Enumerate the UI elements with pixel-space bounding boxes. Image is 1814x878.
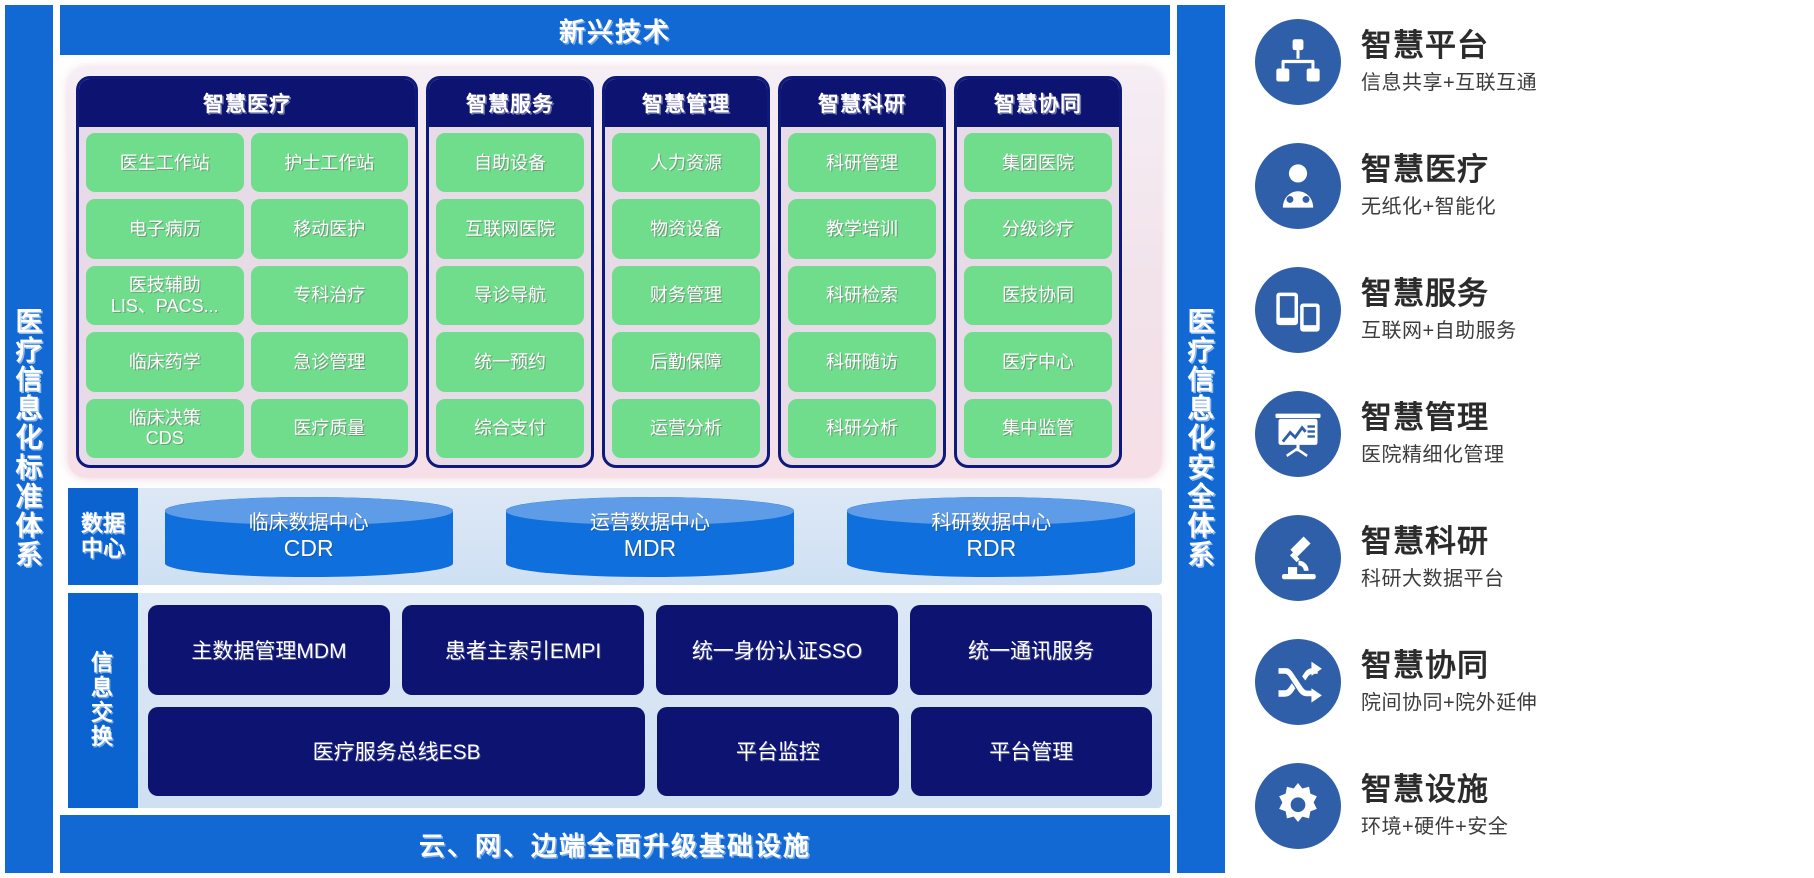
information-exchange-pill[interactable]: 主数据管理MDM bbox=[148, 605, 390, 695]
data-center-tag-line1: 数据 bbox=[81, 512, 125, 537]
information-exchange-tag-char: 息 bbox=[91, 676, 115, 701]
legend-subtitle: 无纸化+智能化 bbox=[1361, 190, 1496, 219]
application-cell[interactable]: 电子病历 bbox=[86, 199, 244, 258]
application-cell[interactable]: 医技协同 bbox=[964, 266, 1112, 325]
right-rail-label: 医疗信息化安全体系 bbox=[1188, 308, 1215, 570]
application-cell[interactable]: 医生工作站 bbox=[86, 133, 244, 192]
legend-subtitle: 信息共享+互联互通 bbox=[1361, 66, 1537, 95]
legend-item[interactable]: 智慧设施环境+硬件+安全 bbox=[1255, 750, 1810, 862]
gear-icon bbox=[1255, 763, 1341, 849]
application-column-body: 集团医院分级诊疗医技协同医疗中心集中监管 bbox=[957, 127, 1119, 465]
legend-item[interactable]: 智慧科研科研大数据平台 bbox=[1255, 502, 1810, 614]
application-cell[interactable]: 临床药学 bbox=[86, 332, 244, 391]
shuffle-icon bbox=[1255, 639, 1341, 725]
application-cell[interactable]: 人力资源 bbox=[612, 133, 760, 192]
right-rail-security-system: 医疗信息化安全体系 bbox=[1177, 5, 1225, 873]
application-column-title: 智慧科研 bbox=[781, 79, 943, 127]
legend-subtitle: 院间协同+院外延伸 bbox=[1361, 686, 1537, 715]
application-cell[interactable]: 分级诊疗 bbox=[964, 199, 1112, 258]
application-cell[interactable]: 急诊管理 bbox=[251, 332, 409, 391]
data-center-cylinder[interactable]: 科研数据中心RDR bbox=[847, 497, 1135, 577]
application-column-body: 自助设备互联网医院导诊导航统一预约综合支付 bbox=[429, 127, 591, 465]
left-rail-standard-system: 医疗信息化标准体系 bbox=[5, 5, 53, 873]
legend-subtitle: 环境+硬件+安全 bbox=[1361, 810, 1508, 839]
org-chart-icon bbox=[1255, 19, 1341, 105]
data-center-name: 运营数据中心 bbox=[590, 511, 710, 535]
application-column-body: 科研管理教学培训科研检索科研随访科研分析 bbox=[781, 127, 943, 465]
application-cell[interactable]: 运营分析 bbox=[612, 399, 760, 458]
architecture-diagram: 医疗信息化标准体系 医疗信息化安全体系 新兴技术 智慧医疗医生工作站电子病历医技… bbox=[0, 0, 1814, 878]
application-cell[interactable]: 集中监管 bbox=[964, 399, 1112, 458]
application-cell[interactable]: 统一预约 bbox=[436, 332, 584, 391]
legend-subtitle: 互联网+自助服务 bbox=[1361, 314, 1517, 343]
data-center-tag: 数据 中心 bbox=[68, 488, 138, 585]
application-column-title: 智慧协同 bbox=[957, 79, 1119, 127]
application-column-title: 智慧医疗 bbox=[79, 79, 415, 127]
legend-title: 智慧医疗 bbox=[1361, 153, 1496, 187]
application-column: 智慧管理人力资源物资设备财务管理后勤保障运营分析 bbox=[602, 76, 770, 468]
application-cell[interactable]: 导诊导航 bbox=[436, 266, 584, 325]
information-exchange-tag-char: 换 bbox=[91, 725, 115, 750]
information-exchange-pill[interactable]: 统一身份认证SSO bbox=[656, 605, 898, 695]
application-column-body: 医生工作站电子病历医技辅助 LIS、PACS...临床药学临床决策 CDS护士工… bbox=[79, 127, 415, 465]
data-center-abbr: RDR bbox=[966, 535, 1016, 563]
information-exchange-row-2: 医疗服务总线ESB平台监控平台管理 bbox=[148, 707, 1152, 797]
information-exchange-layer: 信息交换 主数据管理MDM患者主索引EMPI统一身份认证SSO统一通讯服务 医疗… bbox=[68, 593, 1162, 808]
data-center-abbr: CDR bbox=[284, 535, 334, 563]
legend-text: 智慧服务互联网+自助服务 bbox=[1361, 277, 1517, 343]
information-exchange-pill[interactable]: 患者主索引EMPI bbox=[402, 605, 644, 695]
data-center-name: 科研数据中心 bbox=[931, 511, 1051, 535]
legend-text: 智慧协同院间协同+院外延伸 bbox=[1361, 649, 1537, 715]
legend-item[interactable]: 智慧服务互联网+自助服务 bbox=[1255, 254, 1810, 366]
band-emerging-technology: 新兴技术 bbox=[60, 5, 1170, 55]
data-center-name: 临床数据中心 bbox=[249, 511, 369, 535]
application-cell[interactable]: 互联网医院 bbox=[436, 199, 584, 258]
legend-item[interactable]: 智慧平台信息共享+互联互通 bbox=[1255, 6, 1810, 118]
application-cell[interactable]: 物资设备 bbox=[612, 199, 760, 258]
band-infrastructure: 云、网、边端全面升级基础设施 bbox=[60, 815, 1170, 873]
legend-panel: 智慧平台信息共享+互联互通智慧医疗无纸化+智能化智慧服务互联网+自助服务智慧管理… bbox=[1255, 4, 1810, 874]
application-column-title: 智慧管理 bbox=[605, 79, 767, 127]
information-exchange-pill[interactable]: 医疗服务总线ESB bbox=[148, 707, 645, 797]
legend-text: 智慧设施环境+硬件+安全 bbox=[1361, 773, 1508, 839]
legend-title: 智慧协同 bbox=[1361, 649, 1537, 683]
band-top-label: 新兴技术 bbox=[559, 12, 671, 49]
information-exchange-pill[interactable]: 平台监控 bbox=[657, 707, 898, 797]
application-cell[interactable]: 医疗中心 bbox=[964, 332, 1112, 391]
information-exchange-tag: 信息交换 bbox=[68, 593, 138, 808]
application-cell[interactable]: 自助设备 bbox=[436, 133, 584, 192]
application-cell[interactable]: 护士工作站 bbox=[251, 133, 409, 192]
legend-title: 智慧设施 bbox=[1361, 773, 1508, 807]
application-layer: 智慧医疗医生工作站电子病历医技辅助 LIS、PACS...临床药学临床决策 CD… bbox=[68, 68, 1162, 478]
legend-text: 智慧医疗无纸化+智能化 bbox=[1361, 153, 1496, 219]
application-cell[interactable]: 科研随访 bbox=[788, 332, 936, 391]
legend-text: 智慧管理医院精细化管理 bbox=[1361, 401, 1505, 467]
legend-item[interactable]: 智慧协同院间协同+院外延伸 bbox=[1255, 626, 1810, 738]
application-cell[interactable]: 医技辅助 LIS、PACS... bbox=[86, 266, 244, 325]
application-cell[interactable]: 临床决策 CDS bbox=[86, 399, 244, 458]
application-subcolumn: 集团医院分级诊疗医技协同医疗中心集中监管 bbox=[964, 133, 1112, 458]
information-exchange-pill[interactable]: 平台管理 bbox=[911, 707, 1152, 797]
information-exchange-body: 主数据管理MDM患者主索引EMPI统一身份认证SSO统一通讯服务 医疗服务总线E… bbox=[138, 593, 1162, 808]
application-column: 智慧服务自助设备互联网医院导诊导航统一预约综合支付 bbox=[426, 76, 594, 468]
band-bottom-label: 云、网、边端全面升级基础设施 bbox=[419, 826, 811, 863]
information-exchange-tag-char: 信 bbox=[91, 651, 115, 676]
application-cell[interactable]: 教学培训 bbox=[788, 199, 936, 258]
center-stack: 新兴技术 智慧医疗医生工作站电子病历医技辅助 LIS、PACS...临床药学临床… bbox=[60, 5, 1170, 873]
data-center-abbr: MDR bbox=[624, 535, 676, 563]
left-rail-label: 医疗信息化标准体系 bbox=[16, 308, 43, 570]
application-cell[interactable]: 移动医护 bbox=[251, 199, 409, 258]
legend-title: 智慧科研 bbox=[1361, 525, 1505, 559]
application-subcolumn: 人力资源物资设备财务管理后勤保障运营分析 bbox=[612, 133, 760, 458]
legend-title: 智慧管理 bbox=[1361, 401, 1505, 435]
application-cell[interactable]: 科研管理 bbox=[788, 133, 936, 192]
legend-text: 智慧科研科研大数据平台 bbox=[1361, 525, 1505, 591]
application-cell[interactable]: 集团医院 bbox=[964, 133, 1112, 192]
application-cell[interactable]: 科研分析 bbox=[788, 399, 936, 458]
data-center-layer: 数据 中心 临床数据中心CDR运营数据中心MDR科研数据中心RDR bbox=[68, 488, 1162, 585]
application-cell[interactable]: 科研检索 bbox=[788, 266, 936, 325]
legend-item[interactable]: 智慧医疗无纸化+智能化 bbox=[1255, 130, 1810, 242]
application-cell[interactable]: 综合支付 bbox=[436, 399, 584, 458]
information-exchange-pill[interactable]: 统一通讯服务 bbox=[910, 605, 1152, 695]
legend-subtitle: 科研大数据平台 bbox=[1361, 562, 1505, 591]
application-subcolumn: 科研管理教学培训科研检索科研随访科研分析 bbox=[788, 133, 936, 458]
application-column-body: 人力资源物资设备财务管理后勤保障运营分析 bbox=[605, 127, 767, 465]
legend-subtitle: 医院精细化管理 bbox=[1361, 438, 1505, 467]
legend-item[interactable]: 智慧管理医院精细化管理 bbox=[1255, 378, 1810, 490]
application-cell[interactable]: 后勤保障 bbox=[612, 332, 760, 391]
data-center-cylinder[interactable]: 临床数据中心CDR bbox=[165, 497, 453, 577]
application-column: 智慧协同集团医院分级诊疗医技协同医疗中心集中监管 bbox=[954, 76, 1122, 468]
devices-icon bbox=[1255, 267, 1341, 353]
legend-title: 智慧平台 bbox=[1361, 29, 1537, 63]
legend-text: 智慧平台信息共享+互联互通 bbox=[1361, 29, 1537, 95]
application-column: 智慧医疗医生工作站电子病历医技辅助 LIS、PACS...临床药学临床决策 CD… bbox=[76, 76, 418, 468]
application-cell[interactable]: 专科治疗 bbox=[251, 266, 409, 325]
application-column-title: 智慧服务 bbox=[429, 79, 591, 127]
doctor-icon bbox=[1255, 143, 1341, 229]
application-subcolumn: 护士工作站移动医护专科治疗急诊管理医疗质量 bbox=[251, 133, 409, 458]
application-subcolumn: 医生工作站电子病历医技辅助 LIS、PACS...临床药学临床决策 CDS bbox=[86, 133, 244, 458]
legend-title: 智慧服务 bbox=[1361, 277, 1517, 311]
data-center-tag-line2: 中心 bbox=[81, 537, 125, 562]
application-cell[interactable]: 医疗质量 bbox=[251, 399, 409, 458]
application-cell[interactable]: 财务管理 bbox=[612, 266, 760, 325]
application-column: 智慧科研科研管理教学培训科研检索科研随访科研分析 bbox=[778, 76, 946, 468]
presentation-chart-icon bbox=[1255, 391, 1341, 477]
data-center-items: 临床数据中心CDR运营数据中心MDR科研数据中心RDR bbox=[138, 488, 1162, 585]
data-center-cylinder[interactable]: 运营数据中心MDR bbox=[506, 497, 794, 577]
application-subcolumn: 自助设备互联网医院导诊导航统一预约综合支付 bbox=[436, 133, 584, 458]
information-exchange-tag-char: 交 bbox=[91, 701, 115, 726]
microscope-icon bbox=[1255, 515, 1341, 601]
information-exchange-row-1: 主数据管理MDM患者主索引EMPI统一身份认证SSO统一通讯服务 bbox=[148, 605, 1152, 695]
